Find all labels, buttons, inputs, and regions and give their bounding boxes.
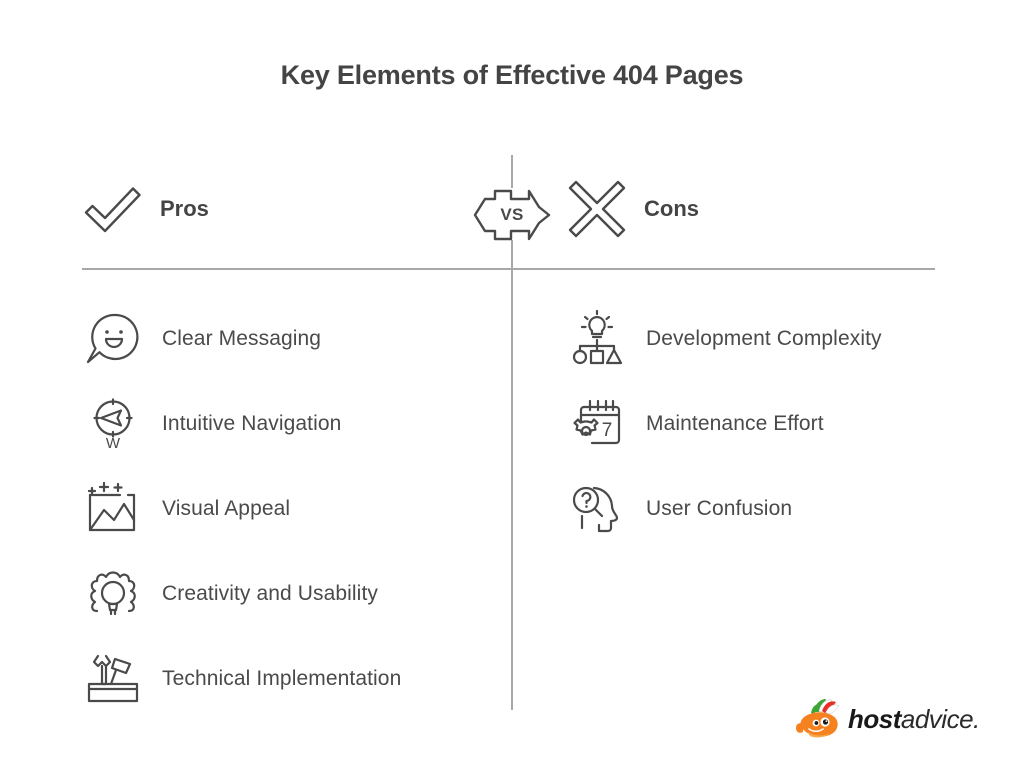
- pros-heading-label: Pros: [160, 196, 209, 222]
- infographic-canvas: Key Elements of Effective 404 Pages Pros…: [0, 0, 1024, 763]
- hostadvice-wordmark: hostadvice.: [848, 706, 980, 732]
- head-question-magnifier-icon: [566, 478, 628, 540]
- calendar-day-number: 7: [602, 420, 613, 441]
- cross-x-icon: [566, 178, 628, 240]
- logo-advice-text: advice.: [901, 704, 980, 734]
- pros-header: Pros: [82, 178, 209, 240]
- list-item: Clear Messaging: [82, 296, 502, 381]
- list-item: Creativity and Usability: [82, 551, 502, 636]
- compass-icon: W: [82, 393, 144, 455]
- cons-heading-label: Cons: [644, 196, 699, 222]
- list-item: Technical Implementation: [82, 636, 502, 721]
- toolbox-wrench-hammer-icon: [82, 648, 144, 710]
- cons-header: Cons: [566, 178, 699, 240]
- list-item: 7 Maintenance Effort: [566, 381, 986, 466]
- horizontal-divider: [82, 268, 935, 270]
- lightbulb-hierarchy-icon: [566, 308, 628, 370]
- checkmark-icon: [82, 178, 144, 240]
- list-item-label: Visual Appeal: [162, 497, 290, 521]
- pros-item-list: Clear Messaging W Intuitive Navigation: [82, 296, 502, 721]
- vs-label: VS: [473, 179, 551, 251]
- list-item: Visual Appeal: [82, 466, 502, 551]
- calendar-gear-icon: 7: [566, 393, 628, 455]
- list-item-label: Maintenance Effort: [646, 412, 824, 436]
- vertical-divider-bottom: [511, 240, 513, 710]
- cons-item-list: Development Complexity 7 Maintenance Eff…: [566, 296, 986, 551]
- list-item: Development Complexity: [566, 296, 986, 381]
- logo-host-text: host: [848, 704, 901, 734]
- list-item-label: User Confusion: [646, 497, 792, 521]
- list-item: User Confusion: [566, 466, 986, 551]
- comparison-header-row: Pros VS Cons: [0, 178, 1024, 253]
- hostadvice-logo[interactable]: hostadvice.: [795, 698, 980, 740]
- list-item-label: Technical Implementation: [162, 667, 401, 691]
- gear-lightbulb-icon: [82, 563, 144, 625]
- list-item: W Intuitive Navigation: [82, 381, 502, 466]
- hostadvice-fox-mascot-icon: [795, 698, 841, 740]
- list-item-label: Creativity and Usability: [162, 582, 378, 606]
- list-item-label: Development Complexity: [646, 327, 882, 351]
- image-sparkle-icon: [82, 478, 144, 540]
- list-item-label: Intuitive Navigation: [162, 412, 341, 436]
- list-item-label: Clear Messaging: [162, 327, 321, 351]
- compass-letter: W: [106, 435, 121, 452]
- speech-bubble-smile-icon: [82, 308, 144, 370]
- page-title: Key Elements of Effective 404 Pages: [0, 60, 1024, 91]
- vs-badge: VS: [473, 179, 551, 251]
